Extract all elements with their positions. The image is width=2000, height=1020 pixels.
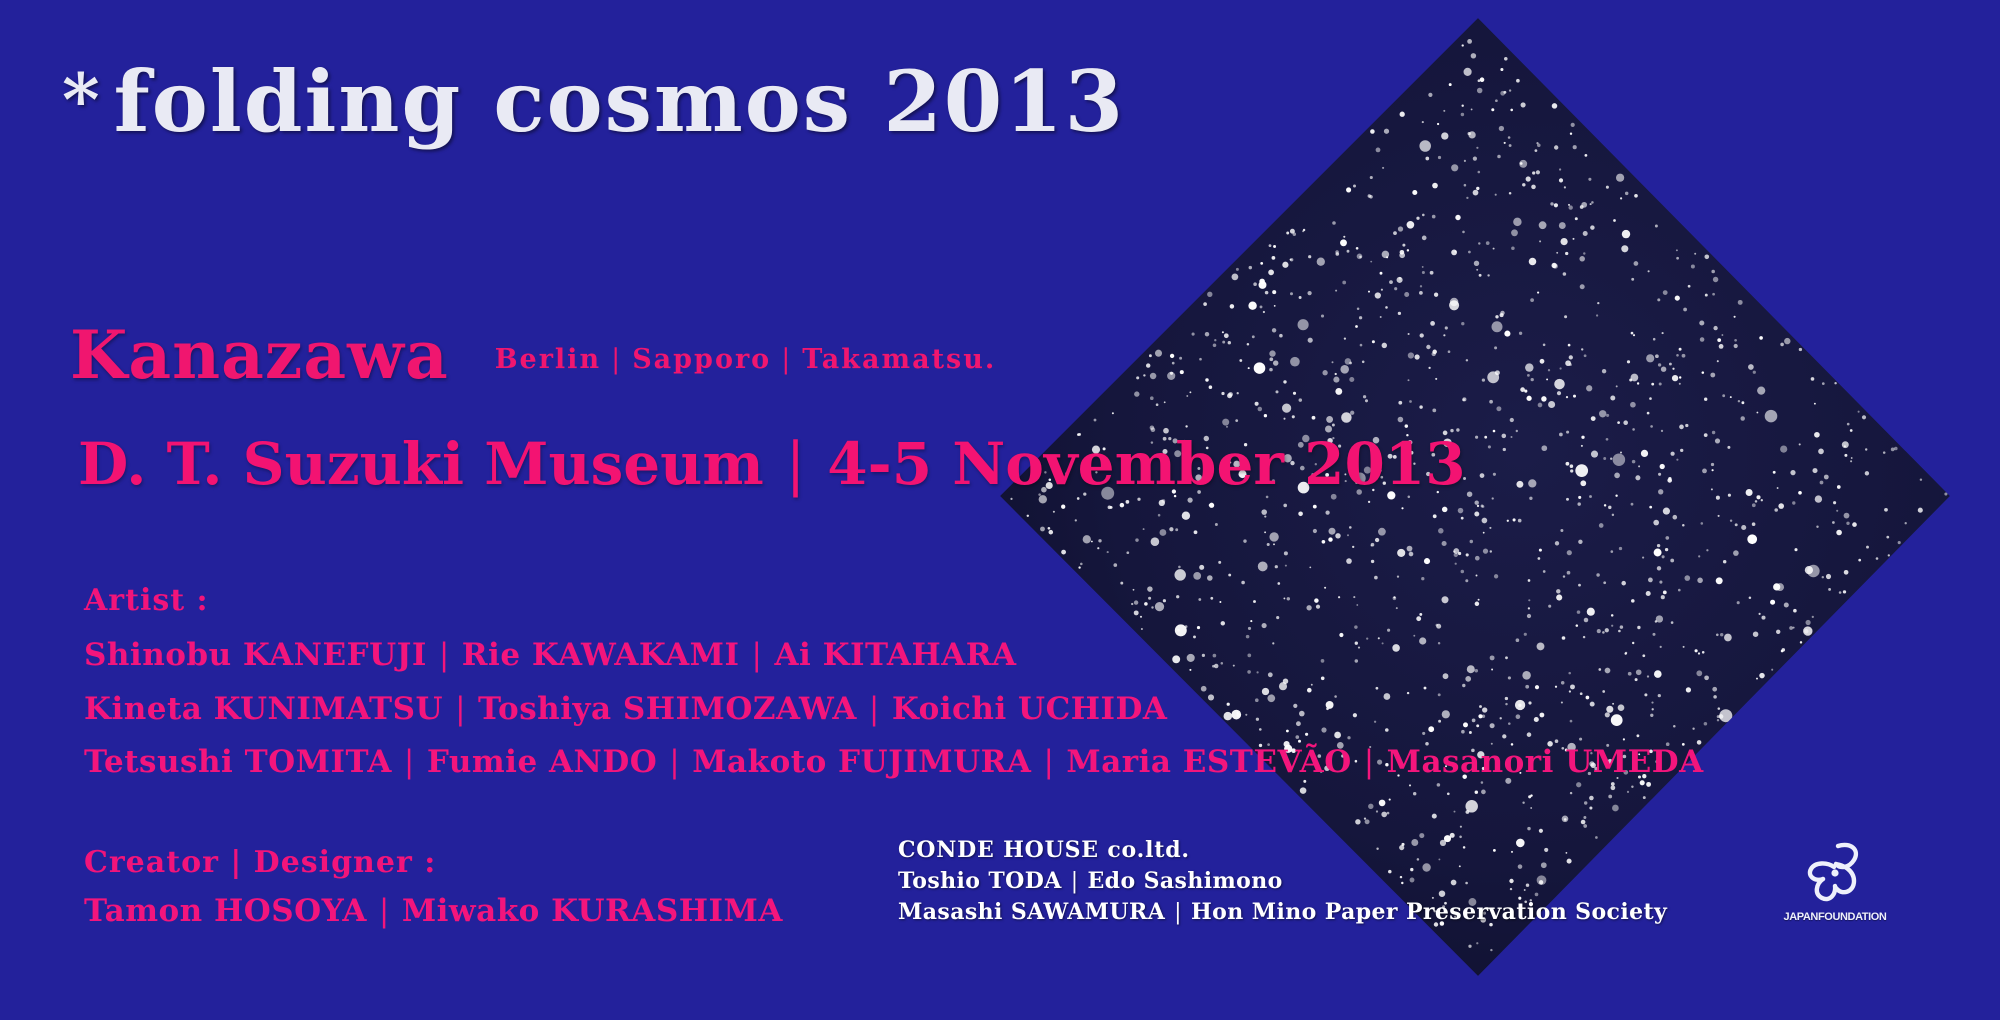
creator-name-line: Tamon HOSOYA|Miwako KURASHIMA <box>84 893 783 929</box>
credit-item: Toshio TODA <box>898 868 1062 894</box>
page-title: *folding cosmos 2013 <box>62 52 1125 151</box>
credit-item: Masashi SAWAMURA <box>898 899 1165 925</box>
artist-name-item: Toshiya SHIMOZAWA <box>478 691 857 727</box>
butterfly-icon <box>1798 838 1872 910</box>
artist-name-item: Makoto FUJIMURA <box>692 744 1031 780</box>
artist-name-separator: | <box>857 691 892 727</box>
artist-name-item: Koichi UCHIDA <box>892 691 1168 727</box>
logo-wordmark: JAPANFOUNDATION <box>1760 911 1910 923</box>
artist-name-item: Maria ESTEVÃO <box>1066 744 1351 780</box>
city-separator: | <box>601 344 632 375</box>
venue-separator: | <box>764 430 828 498</box>
artist-name-item: Tetsushi TOMITA <box>84 744 392 780</box>
artist-name-item: Fumie ANDO <box>427 744 657 780</box>
artist-name-item: Kineta KUNIMATSU <box>84 691 443 727</box>
creator-name-item: Miwako KURASHIMA <box>402 893 783 929</box>
artist-label: Artist : <box>84 583 209 618</box>
artist-name-item: Rie KAWAKAMI <box>462 637 740 673</box>
credits-line: Masashi SAWAMURA|Hon Mino Paper Preserva… <box>898 897 1667 928</box>
asterisk-glyph: * <box>62 57 102 142</box>
artist-name-item: Ai KITAHARA <box>774 637 1016 673</box>
credits-line: CONDE HOUSE co.ltd. <box>898 835 1667 866</box>
creator-designer-label: Creator | Designer : <box>84 845 436 880</box>
title-text: folding cosmos 2013 <box>114 52 1125 151</box>
poster-canvas: *folding cosmos 2013 Kanazawa Berlin|Sap… <box>0 0 2000 1020</box>
city-separator: | <box>771 344 802 375</box>
japan-foundation-logo: JAPANFOUNDATION <box>1760 838 1910 936</box>
credit-separator: | <box>1062 869 1088 894</box>
creator-name-separator: | <box>367 893 402 929</box>
primary-city: Kanazawa <box>70 316 449 394</box>
credits-line: Toshio TODA|Edo Sashimono <box>898 866 1667 897</box>
credit-item: CONDE HOUSE co.ltd. <box>898 837 1190 863</box>
venue-dates: 4-5 November 2013 <box>827 430 1465 498</box>
credit-item: Edo Sashimono <box>1088 868 1283 894</box>
artist-name-item: Shinobu KANEFUJI <box>84 637 427 673</box>
creator-name-item: Tamon HOSOYA <box>84 893 367 929</box>
venue-name: D. T. Suzuki Museum <box>78 430 764 498</box>
city-berlin: Berlin <box>495 344 601 375</box>
artist-name-item: Masanori UMEDA <box>1387 744 1704 780</box>
artist-name-separator: | <box>392 744 427 780</box>
artist-name-separator: | <box>1352 744 1387 780</box>
artist-name-line: Kineta KUNIMATSU|Toshiya SHIMOZAWA|Koich… <box>84 691 1167 727</box>
butterfly-body-dot <box>1831 869 1838 876</box>
artist-name-separator: | <box>740 637 775 673</box>
artist-name-separator: | <box>427 637 462 673</box>
credit-separator: | <box>1165 900 1191 925</box>
artist-name-separator: | <box>1031 744 1066 780</box>
secondary-cities: Berlin|Sapporo|Takamatsu. <box>495 344 997 375</box>
artist-name-line: Shinobu KANEFUJI|Rie KAWAKAMI|Ai KITAHAR… <box>84 637 1017 673</box>
credits-block: CONDE HOUSE co.ltd.Toshio TODA|Edo Sashi… <box>898 835 1667 929</box>
artist-name-separator: | <box>657 744 692 780</box>
artist-name-separator: | <box>443 691 478 727</box>
credit-item: Hon Mino Paper Preservation Society <box>1191 899 1667 925</box>
city-sapporo: Sapporo <box>632 344 771 375</box>
city-takamatsu: Takamatsu. <box>802 344 996 375</box>
venue-row: D. T. Suzuki Museum|4-5 November 2013 <box>78 430 1466 498</box>
city-row: Kanazawa Berlin|Sapporo|Takamatsu. <box>70 316 996 394</box>
artist-name-line: Tetsushi TOMITA|Fumie ANDO|Makoto FUJIMU… <box>84 744 1704 780</box>
